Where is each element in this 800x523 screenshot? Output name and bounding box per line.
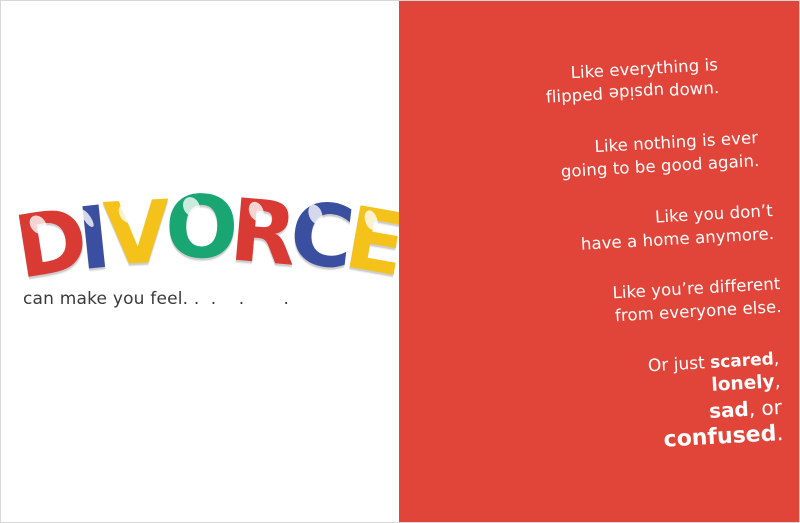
emotion-punctuation: , or [748,396,782,422]
left-page: D I V O R C E can make you feel. . . . . [1,1,399,522]
stanza-different: Like you’re different from everyone else… [612,272,782,328]
emotion-punctuation: , [773,349,780,369]
stanza-list: Like everything is flipped upside down. … [399,53,781,449]
right-page: Like everything is flipped upside down. … [399,1,799,522]
book-spread: D I V O R C E can make you feel. . . . .… [0,0,800,523]
emotion-word-sad: sad [708,397,749,423]
subtitle-text: can make you feel. . . . . [23,289,393,309]
emotion-line-confused: confused. [651,420,784,456]
emotion-punctuation: , [774,372,781,393]
flipped-word-upside: upside [608,80,665,106]
emotion-word-scared: scared [709,350,774,374]
emotion-punctuation: . [775,421,783,446]
stanza-nothing-good: Like nothing is ever going to be good ag… [559,126,760,184]
emotion-line-lead: Or just [647,353,710,376]
stanza-no-home: Like you don’t have a home anymore. [579,199,775,257]
stanza-upside-down: Like everything is flipped upside down. [544,53,720,109]
wordmark-letter-v: V [102,194,171,275]
emotion-word-lonely: lonely [711,372,775,396]
emotion-word-confused: confused [663,422,777,453]
stanza-emotions: Or just scared, lonely, sad, or confused… [647,348,784,456]
stanza-line-suffix: down. [664,78,721,100]
divorce-wordmark: D I V O R C E [15,169,385,277]
wordmark-letter-o: O [164,189,236,268]
stanza-line-prefix: flipped [546,85,610,107]
